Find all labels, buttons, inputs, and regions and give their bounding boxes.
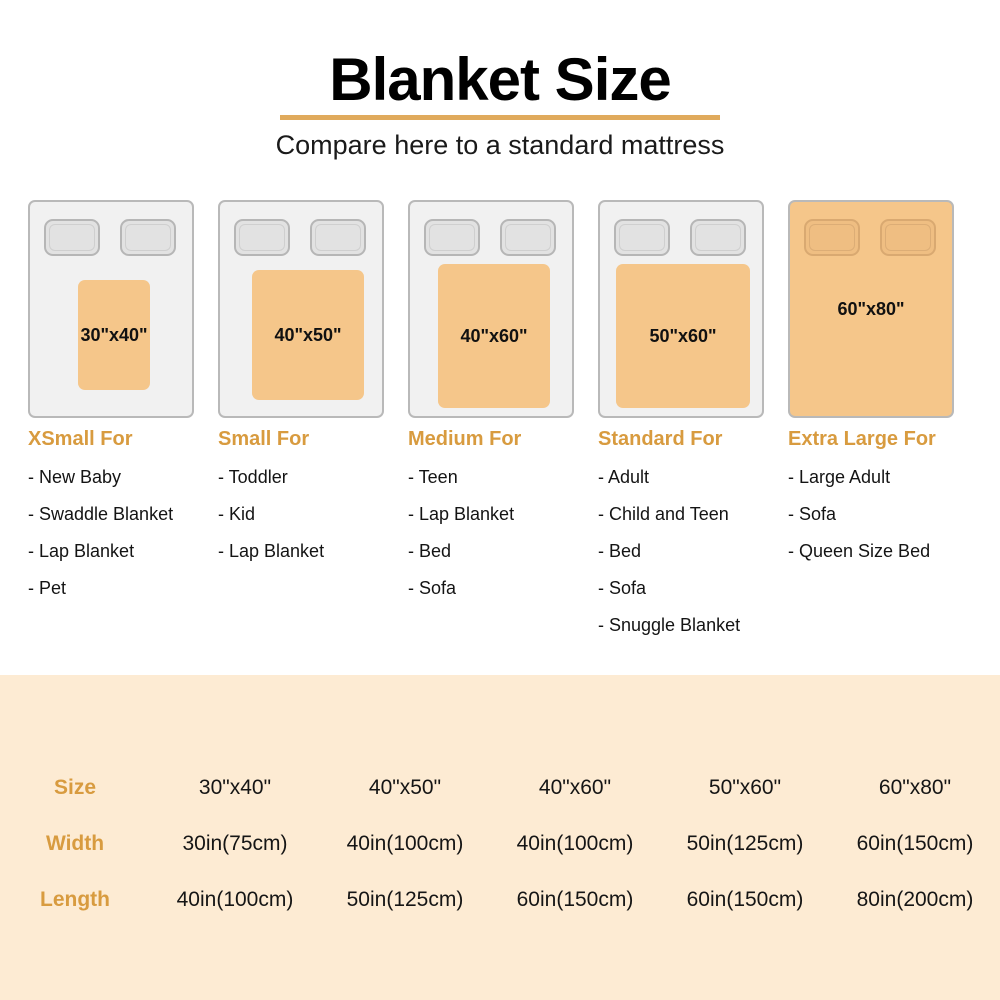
- usage-item: - Lap Blanket: [408, 504, 598, 525]
- bed-cell-standard: 50"x60": [598, 200, 764, 420]
- bed-cell-medium: 40"x60": [408, 200, 574, 420]
- usage-item: - Kid: [218, 504, 408, 525]
- spec-cell: 60"x80": [830, 760, 1000, 816]
- usage-item: - Sofa: [408, 578, 598, 599]
- usage-heading-small: Small For: [218, 428, 408, 451]
- usage-item: - Queen Size Bed: [788, 541, 978, 562]
- bed-diagram-xsmall: 30"x40": [28, 200, 194, 418]
- spec-cell: 80in(200cm): [830, 872, 1000, 928]
- usage-item: - Pet: [28, 578, 218, 599]
- usage-column-standard: Standard For - Adult - Child and Teen - …: [598, 428, 788, 652]
- usage-item: - Adult: [598, 467, 788, 488]
- usage-item: - Bed: [598, 541, 788, 562]
- spec-row-label-width: Width: [0, 816, 150, 872]
- usage-item: - Sofa: [788, 504, 978, 525]
- blanket-shape-extra-large: 60"x80": [790, 202, 952, 416]
- pillow-icon: [690, 219, 746, 256]
- bed-cell-xsmall: 30"x40": [28, 200, 194, 420]
- page-title: Blanket Size: [329, 0, 670, 111]
- pillow-icon: [44, 219, 100, 256]
- usage-item: - Lap Blanket: [28, 541, 218, 562]
- pillow-icon: [234, 219, 290, 256]
- usage-column-medium: Medium For - Teen - Lap Blanket - Bed - …: [408, 428, 598, 652]
- usage-item: - Swaddle Blanket: [28, 504, 218, 525]
- usage-item: - Sofa: [598, 578, 788, 599]
- usage-column-small: Small For - Toddler - Kid - Lap Blanket: [218, 428, 408, 652]
- spec-table: Size 30"x40" 40"x50" 40"x60" 50"x60" 60"…: [0, 760, 1000, 928]
- spec-cell: 50in(125cm): [320, 872, 490, 928]
- blanket-shape-xsmall: 30"x40": [78, 280, 150, 390]
- pillow-icon: [120, 219, 176, 256]
- spec-cell: 60in(150cm): [490, 872, 660, 928]
- usage-column-xsmall: XSmall For - New Baby - Swaddle Blanket …: [28, 428, 218, 652]
- bed-diagram-medium: 40"x60": [408, 200, 574, 418]
- blanket-shape-standard: 50"x60": [616, 264, 750, 408]
- usage-item: - Teen: [408, 467, 598, 488]
- blanket-shape-small: 40"x50": [252, 270, 364, 400]
- blanket-shape-medium: 40"x60": [438, 264, 550, 408]
- usage-column-extra-large: Extra Large For - Large Adult - Sofa - Q…: [788, 428, 978, 652]
- spec-cell: 60in(150cm): [660, 872, 830, 928]
- blanket-size-label: 30"x40": [80, 325, 147, 346]
- usage-heading-extra-large: Extra Large For: [788, 428, 978, 451]
- blanket-size-infographic: Blanket Size Compare here to a standard …: [0, 0, 1000, 1000]
- header: Blanket Size Compare here to a standard …: [0, 0, 1000, 161]
- pillow-icon: [310, 219, 366, 256]
- spec-cell: 40in(100cm): [320, 816, 490, 872]
- table-row: Size 30"x40" 40"x50" 40"x60" 50"x60" 60"…: [0, 760, 1000, 816]
- bed-diagram-small: 40"x50": [218, 200, 384, 418]
- page-title-wrap: Blanket Size: [0, 0, 1000, 120]
- blanket-size-label: 60"x80": [837, 299, 904, 320]
- usage-heading-standard: Standard For: [598, 428, 788, 451]
- spec-cell: 40"x60": [490, 760, 660, 816]
- blanket-size-label: 50"x60": [649, 326, 716, 347]
- bed-diagram-extra-large: 60"x80": [788, 200, 954, 418]
- usage-item: - New Baby: [28, 467, 218, 488]
- spec-cell: 50"x60": [660, 760, 830, 816]
- spec-table-section: Size 30"x40" 40"x50" 40"x60" 50"x60" 60"…: [0, 675, 1000, 1000]
- usage-heading-xsmall: XSmall For: [28, 428, 218, 451]
- usage-item: - Toddler: [218, 467, 408, 488]
- bed-cell-extra-large: 60"x80": [788, 200, 954, 420]
- spec-cell: 30"x40": [150, 760, 320, 816]
- usage-item: - Snuggle Blanket: [598, 615, 788, 636]
- bed-diagrams-row: 30"x40" 40"x50" 40"x60": [0, 200, 1000, 420]
- table-row: Length 40in(100cm) 50in(125cm) 60in(150c…: [0, 872, 1000, 928]
- spec-row-label-size: Size: [0, 760, 150, 816]
- usage-item: - Large Adult: [788, 467, 978, 488]
- spec-cell: 50in(125cm): [660, 816, 830, 872]
- pillow-icon: [424, 219, 480, 256]
- bed-diagram-standard: 50"x60": [598, 200, 764, 418]
- spec-row-label-length: Length: [0, 872, 150, 928]
- bed-cell-small: 40"x50": [218, 200, 384, 420]
- spec-cell: 30in(75cm): [150, 816, 320, 872]
- spec-cell: 40in(100cm): [150, 872, 320, 928]
- page-subtitle: Compare here to a standard mattress: [0, 130, 1000, 161]
- spec-cell: 60in(150cm): [830, 816, 1000, 872]
- pillow-icon: [614, 219, 670, 256]
- usage-columns: XSmall For - New Baby - Swaddle Blanket …: [0, 428, 1000, 652]
- pillow-icon: [500, 219, 556, 256]
- blanket-size-label: 40"x50": [274, 325, 341, 346]
- usage-heading-medium: Medium For: [408, 428, 598, 451]
- blanket-size-label: 40"x60": [460, 326, 527, 347]
- spec-cell: 40"x50": [320, 760, 490, 816]
- spec-cell: 40in(100cm): [490, 816, 660, 872]
- usage-item: - Lap Blanket: [218, 541, 408, 562]
- title-underline: [280, 115, 720, 120]
- usage-item: - Bed: [408, 541, 598, 562]
- usage-item: - Child and Teen: [598, 504, 788, 525]
- table-row: Width 30in(75cm) 40in(100cm) 40in(100cm)…: [0, 816, 1000, 872]
